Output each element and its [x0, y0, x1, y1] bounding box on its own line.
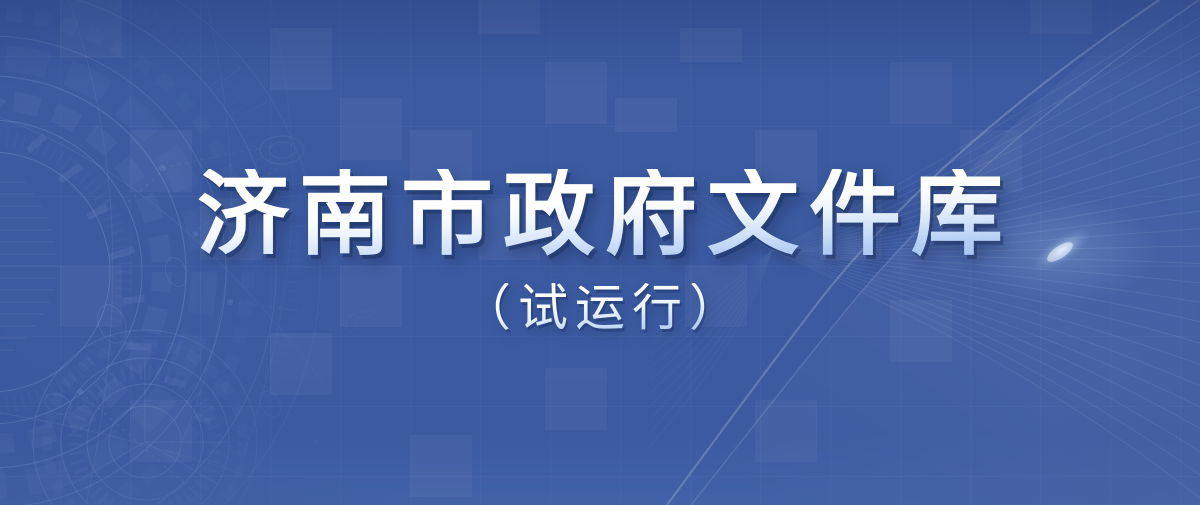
page-subtitle: （试运行） [454, 283, 746, 333]
page-title: 济南市政府文件库 [187, 169, 1013, 261]
title-wrap: 济南市政府文件库 [187, 169, 1013, 261]
banner-content: 济南市政府文件库 （试运行） [0, 0, 1200, 505]
site-banner: 济南市政府文件库 （试运行） [0, 0, 1200, 505]
